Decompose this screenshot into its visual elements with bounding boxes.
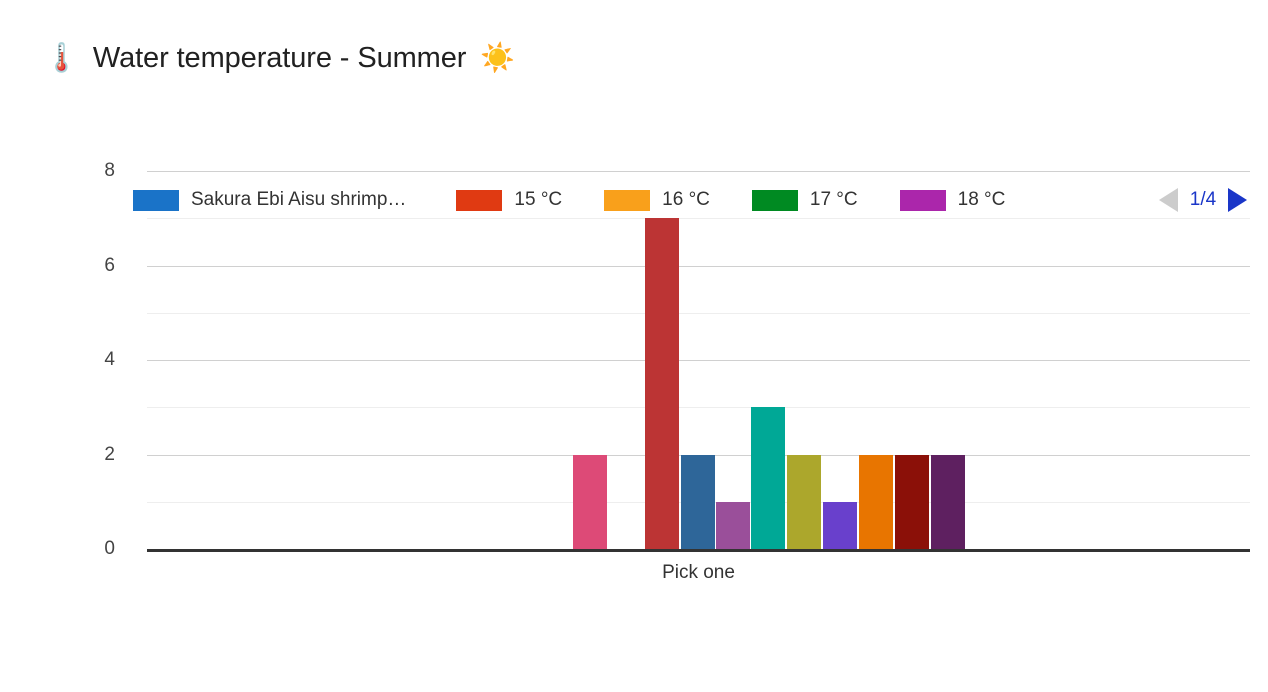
legend-item-label: 15 °C (514, 189, 562, 211)
x-axis-line (147, 549, 1250, 552)
thermometer-icon: 🌡️ (44, 44, 79, 72)
page-title-text: Water temperature - Summer (93, 44, 466, 73)
legend-pagination: 1/4 (1159, 188, 1247, 212)
x-axis-title: Pick one (147, 562, 1250, 584)
legend-item-label: 18 °C (958, 189, 1006, 211)
legend-swatch-icon (604, 190, 650, 211)
bar[interactable] (751, 407, 785, 549)
legend-item[interactable]: 17 °C (752, 189, 858, 211)
bar[interactable] (931, 455, 965, 550)
bar[interactable] (823, 502, 857, 549)
triangle-left-icon[interactable] (1159, 188, 1178, 212)
sun-icon: ☀️ (480, 44, 515, 72)
chart-legend: Sakura Ebi Aisu shrimp…15 °C16 °C17 °C18… (133, 182, 1255, 218)
legend-swatch-icon (900, 190, 946, 211)
legend-item[interactable]: Sakura Ebi Aisu shrimp… (133, 189, 406, 211)
bar[interactable] (681, 455, 715, 550)
y-axis-tick-label: 0 (104, 538, 115, 560)
legend-item-label: 17 °C (810, 189, 858, 211)
legend-item-label: 16 °C (662, 189, 710, 211)
legend-item[interactable]: 16 °C (604, 189, 710, 211)
y-axis-labels: 02468 (0, 171, 133, 549)
chart-page: 🌡️ Water temperature - Summer ☀️ 02468 P… (0, 0, 1268, 692)
y-axis-tick-label: 4 (104, 349, 115, 371)
bar[interactable] (573, 455, 607, 550)
bar[interactable] (895, 455, 929, 550)
legend-swatch-icon (133, 190, 179, 211)
legend-item-label: Sakura Ebi Aisu shrimp… (191, 189, 406, 211)
legend-page-label: 1/4 (1188, 189, 1218, 211)
y-axis-tick-label: 8 (104, 160, 115, 182)
bar[interactable] (645, 218, 679, 549)
bar[interactable] (859, 455, 893, 550)
bar-series (147, 171, 1250, 549)
y-axis-tick-label: 6 (104, 255, 115, 277)
triangle-right-icon[interactable] (1228, 188, 1247, 212)
legend-item[interactable]: 18 °C (900, 189, 1006, 211)
legend-swatch-icon (752, 190, 798, 211)
legend-swatch-icon (456, 190, 502, 211)
legend-item-list: Sakura Ebi Aisu shrimp…15 °C16 °C17 °C18… (133, 189, 1047, 211)
bar[interactable] (787, 455, 821, 550)
legend-item[interactable]: 15 °C (456, 189, 562, 211)
page-title: 🌡️ Water temperature - Summer ☀️ (44, 36, 515, 80)
y-axis-tick-label: 2 (104, 444, 115, 466)
bar[interactable] (716, 502, 750, 549)
